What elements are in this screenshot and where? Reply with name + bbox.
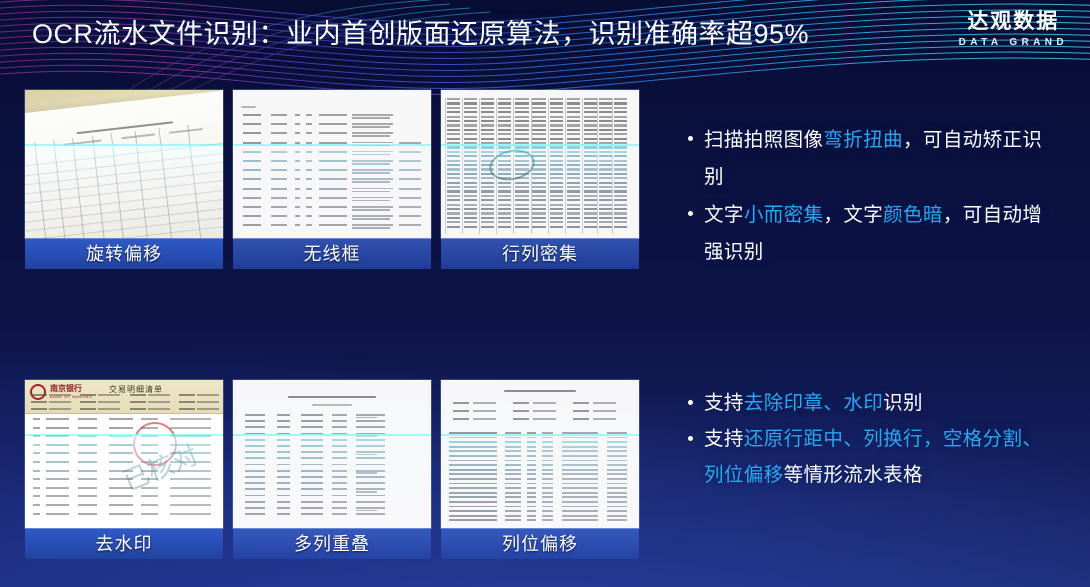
doc-text-line xyxy=(550,146,563,148)
doc-text-line xyxy=(481,138,494,140)
doc-text-line xyxy=(78,418,97,420)
doc-text-line xyxy=(46,444,69,446)
doc-text-line xyxy=(550,133,563,135)
doc-text-line xyxy=(301,426,323,428)
doc-text-line xyxy=(78,427,97,429)
doc-text-line xyxy=(245,501,265,503)
doc-text-line xyxy=(567,212,580,214)
doc-column-rule xyxy=(597,98,598,234)
doc-text-line xyxy=(573,418,589,420)
doc-text-line xyxy=(498,186,511,188)
doc-text-line xyxy=(567,129,580,131)
doc-text-line xyxy=(148,408,170,410)
doc-text-line xyxy=(464,217,477,219)
doc-text-line xyxy=(607,483,627,485)
highlighted-text: 小而密集 xyxy=(744,204,824,226)
doc-text-line xyxy=(550,217,563,219)
document-mock-dense-table xyxy=(441,90,639,238)
bank-name: 南京银行 xyxy=(50,383,82,394)
sample-thumbnail-column-shift xyxy=(441,380,639,528)
doc-text-line xyxy=(481,199,494,201)
doc-text-line xyxy=(464,182,477,184)
doc-text-line xyxy=(550,98,563,100)
doc-text-line xyxy=(562,487,597,489)
doc-text-line xyxy=(130,394,146,396)
doc-text-line xyxy=(550,102,563,104)
doc-text-line xyxy=(599,107,612,109)
doc-text-line xyxy=(464,111,477,113)
doc-text-line xyxy=(332,414,347,416)
doc-text-line xyxy=(352,126,389,128)
doc-text-line xyxy=(550,190,563,192)
sample-card-remove-watermark[interactable]: 南京银行 BANK OF NANJING 交易明细清单 已核对 去水印 xyxy=(25,380,223,559)
doc-text-line xyxy=(245,420,265,422)
doc-text-line xyxy=(245,513,265,515)
doc-text-line xyxy=(584,186,597,188)
doc-text-line xyxy=(130,401,146,403)
doc-text-line xyxy=(277,451,290,453)
doc-text-line xyxy=(80,401,96,403)
plain-text: 支持 xyxy=(704,392,744,414)
doc-text-line xyxy=(464,102,477,104)
doc-text-line xyxy=(464,168,477,170)
doc-text-line xyxy=(607,473,627,475)
doc-text-line xyxy=(109,504,134,506)
doc-text-line xyxy=(562,496,597,498)
doc-text-line xyxy=(481,120,494,122)
doc-column-rule xyxy=(548,98,549,234)
doc-text-line xyxy=(498,138,511,140)
doc-text-line xyxy=(515,204,528,206)
doc-text-line xyxy=(243,215,262,217)
doc-text-line xyxy=(599,138,612,140)
doc-text-line xyxy=(567,116,580,118)
doc-text-line xyxy=(399,151,421,153)
doc-text-line xyxy=(277,470,290,472)
doc-text-line xyxy=(584,138,597,140)
doc-text-line xyxy=(567,155,580,157)
doc-text-line xyxy=(599,133,612,135)
doc-text-line xyxy=(542,473,553,475)
doc-text-line xyxy=(243,169,262,171)
doc-text-line xyxy=(481,221,494,223)
doc-text-line xyxy=(271,142,288,144)
doc-text-line xyxy=(46,461,69,463)
doc-text-line xyxy=(271,178,288,180)
doc-text-line xyxy=(141,504,158,506)
doc-text-line xyxy=(481,204,494,206)
doc-text-line xyxy=(584,124,597,126)
doc-text-line xyxy=(532,226,545,228)
doc-text-line xyxy=(46,427,69,429)
doc-text-line xyxy=(599,217,612,219)
doc-text-line xyxy=(599,190,612,192)
doc-text-line xyxy=(532,208,545,210)
doc-text-line xyxy=(319,178,347,180)
doc-text-line xyxy=(245,414,265,416)
doc-text-line xyxy=(532,120,545,122)
doc-text-line xyxy=(481,195,494,197)
doc-text-line xyxy=(306,160,312,162)
doc-text-line xyxy=(599,177,612,179)
doc-text-line xyxy=(527,487,536,489)
doc-text-line xyxy=(301,451,323,453)
sample-card-caption: 多列重叠 xyxy=(233,528,431,559)
doc-text-line xyxy=(599,102,612,104)
doc-text-line xyxy=(481,190,494,192)
doc-text-line xyxy=(473,402,497,404)
doc-text-line xyxy=(464,155,477,157)
doc-text-line xyxy=(532,204,545,206)
doc-text-line xyxy=(614,217,627,219)
doc-text-line xyxy=(295,132,301,134)
doc-text-line xyxy=(319,151,347,153)
doc-text-line xyxy=(599,155,612,157)
doc-text-line xyxy=(449,478,497,480)
doc-text-line xyxy=(332,433,347,435)
doc-text-line xyxy=(481,226,494,228)
doc-column-rule xyxy=(612,98,613,234)
doc-text-line xyxy=(170,495,212,497)
doc-text-line xyxy=(550,195,563,197)
doc-text-line xyxy=(532,168,545,170)
doc-text-line xyxy=(295,188,301,190)
doc-text-line xyxy=(80,394,96,396)
doc-text-line xyxy=(301,488,323,490)
doc-text-line xyxy=(356,482,385,484)
doc-text-line xyxy=(532,199,545,201)
doc-text-line xyxy=(533,410,557,412)
doc-text-line xyxy=(130,408,146,410)
doc-text-line xyxy=(607,492,627,494)
doc-text-line xyxy=(33,452,41,454)
doc-text-line xyxy=(532,221,545,223)
doc-text-line xyxy=(527,446,536,448)
doc-text-line xyxy=(498,208,511,210)
doc-text-line xyxy=(542,437,553,439)
slide-root: OCR流水文件识别：业内首创版面还原算法，识别准确率超95% 达观数据 DATA… xyxy=(0,0,1090,587)
doc-text-line xyxy=(464,164,477,166)
doc-text-line xyxy=(449,446,497,448)
doc-text-line xyxy=(542,460,553,462)
doc-text-line xyxy=(614,160,627,162)
doc-text-line xyxy=(301,433,323,435)
doc-text-line xyxy=(464,195,477,197)
doc-text-line xyxy=(295,169,301,171)
doc-text-line xyxy=(170,418,212,420)
doc-text-line xyxy=(243,151,262,153)
doc-text-line xyxy=(356,464,385,466)
doc-text-line xyxy=(31,394,47,396)
doc-text-line xyxy=(481,217,494,219)
document-mock-multi-column xyxy=(233,380,431,528)
sample-card-column-overlap[interactable]: 多列重叠 xyxy=(233,380,431,559)
doc-text-line xyxy=(449,506,497,508)
doc-text-line xyxy=(584,195,597,197)
doc-text-line xyxy=(498,146,511,148)
doc-text-line xyxy=(505,487,522,489)
doc-text-line xyxy=(505,469,522,471)
doc-text-line xyxy=(319,224,347,226)
doc-text-line xyxy=(550,107,563,109)
sample-card-dense-grid[interactable]: 行列密集 xyxy=(441,90,639,269)
doc-text-line xyxy=(584,208,597,210)
doc-text-line xyxy=(141,495,158,497)
doc-text-line xyxy=(356,454,378,456)
doc-text-line xyxy=(295,215,301,217)
doc-text-line xyxy=(306,114,312,116)
doc-text-line xyxy=(562,492,597,494)
doc-text-line xyxy=(447,168,460,170)
doc-text-line xyxy=(567,199,580,201)
doc-text-line xyxy=(505,464,522,466)
doc-text-line xyxy=(498,98,511,100)
doc-text-line xyxy=(599,116,612,118)
doc-text-line xyxy=(277,439,290,441)
doc-text-line xyxy=(550,186,563,188)
doc-text-line xyxy=(306,178,312,180)
doc-text-line xyxy=(399,160,421,162)
doc-text-line xyxy=(532,98,545,100)
doc-text-line xyxy=(148,394,170,396)
sample-thumbnail-rotation-offset xyxy=(25,90,223,238)
doc-text-line xyxy=(319,169,347,171)
doc-text-line xyxy=(245,426,265,428)
doc-text-line xyxy=(352,172,389,174)
doc-text-line xyxy=(562,473,597,475)
doc-text-line xyxy=(245,433,265,435)
doc-text-line xyxy=(301,513,323,515)
doc-text-line xyxy=(271,169,288,171)
doc-text-line xyxy=(599,173,612,175)
doc-text-line xyxy=(550,173,563,175)
doc-text-line xyxy=(449,450,497,452)
doc-column-rule xyxy=(565,98,566,234)
doc-text-line xyxy=(306,215,312,217)
doc-text-line xyxy=(271,114,288,116)
doc-text-line xyxy=(464,204,477,206)
doc-text-line xyxy=(170,513,212,515)
doc-text-line xyxy=(78,470,97,472)
doc-text-line xyxy=(562,519,597,521)
doc-text-line xyxy=(319,188,347,190)
doc-text-line xyxy=(179,408,195,410)
doc-text-line xyxy=(447,226,460,228)
doc-text-line xyxy=(301,464,323,466)
doc-text-line xyxy=(599,199,612,201)
doc-text-line xyxy=(352,160,393,162)
doc-text-line xyxy=(614,142,627,144)
doc-text-line xyxy=(607,460,627,462)
doc-text-line xyxy=(515,133,528,135)
doc-text-line xyxy=(352,145,389,147)
doc-text-line xyxy=(505,450,522,452)
doc-text-line xyxy=(148,401,170,403)
doc-text-line xyxy=(599,124,612,126)
doc-text-line xyxy=(33,487,41,489)
doc-text-line xyxy=(599,204,612,206)
doc-text-line xyxy=(332,420,347,422)
doc-text-line xyxy=(599,142,612,144)
doc-text-line xyxy=(464,173,477,175)
doc-text-line xyxy=(453,418,469,420)
doc-text-line xyxy=(599,120,612,122)
doc-text-line xyxy=(527,501,536,503)
doc-text-line xyxy=(481,186,494,188)
doc-text-line xyxy=(505,510,522,512)
doc-text-line xyxy=(614,107,627,109)
doc-text-line xyxy=(515,124,528,126)
doc-text-line xyxy=(332,426,347,428)
doc-text-line xyxy=(98,408,120,410)
doc-text-line xyxy=(464,146,477,148)
doc-text-line xyxy=(532,133,545,135)
list-item: 支持还原行距中、列换行，空格分割、列位偏移等情形流水表格 xyxy=(688,422,1060,494)
doc-text-line xyxy=(447,151,460,153)
doc-text-line xyxy=(352,117,389,119)
doc-text-line xyxy=(481,107,494,109)
doc-text-line xyxy=(306,123,312,125)
doc-text-line xyxy=(356,457,385,459)
doc-text-line xyxy=(614,120,627,122)
doc-text-line xyxy=(245,507,265,509)
doc-text-line xyxy=(464,133,477,135)
doc-text-line xyxy=(567,226,580,228)
doc-text-line xyxy=(352,224,393,226)
doc-text-line xyxy=(295,142,301,144)
doc-text-line xyxy=(567,102,580,104)
doc-text-line xyxy=(464,212,477,214)
doc-text-line xyxy=(141,513,158,515)
doc-text-line xyxy=(332,451,347,453)
doc-text-line xyxy=(481,98,494,100)
doc-text-line xyxy=(515,116,528,118)
doc-text-line xyxy=(532,124,545,126)
feature-list-top: 扫描拍照图像弯折扭曲，可自动矫正识别 文字小而密集，文字颜色暗，可自动增强识别 xyxy=(688,122,1060,272)
doc-text-line xyxy=(532,173,545,175)
doc-text-line xyxy=(515,226,528,228)
doc-text-line xyxy=(567,133,580,135)
doc-text-line xyxy=(515,146,528,148)
doc-text-line xyxy=(567,160,580,162)
document-mock-photo-receipt xyxy=(25,90,223,238)
doc-column-rule xyxy=(462,98,463,234)
sample-card-rotation-offset[interactable]: 旋转偏移 xyxy=(25,90,223,269)
doc-text-line xyxy=(356,420,385,422)
doc-text-line xyxy=(567,107,580,109)
doc-text-line xyxy=(614,208,627,210)
doc-text-line xyxy=(599,98,612,100)
doc-text-line xyxy=(277,457,290,459)
doc-text-line xyxy=(464,124,477,126)
doc-text-line xyxy=(542,492,553,494)
doc-text-line xyxy=(277,476,290,478)
brand-logo-cn: 达观数据 xyxy=(959,10,1068,34)
doc-text-line xyxy=(447,142,460,144)
doc-text-line xyxy=(277,414,290,416)
doc-text-line xyxy=(33,470,41,472)
doc-text-line xyxy=(449,437,497,439)
doc-text-line xyxy=(447,173,460,175)
doc-text-line xyxy=(532,116,545,118)
doc-text-line xyxy=(447,177,460,179)
doc-text-line xyxy=(599,160,612,162)
doc-text-line xyxy=(614,177,627,179)
doc-text-line xyxy=(562,464,597,466)
doc-text-line xyxy=(243,160,262,162)
doc-text-line xyxy=(306,224,312,226)
doc-text-line xyxy=(542,478,553,480)
doc-text-line xyxy=(271,160,288,162)
doc-text-line xyxy=(46,513,69,515)
doc-text-line xyxy=(179,394,195,396)
doc-text-line xyxy=(498,120,511,122)
doc-text-line xyxy=(614,98,627,100)
doc-text-line xyxy=(356,433,385,435)
doc-text-line xyxy=(498,107,511,109)
doc-text-line xyxy=(245,457,265,459)
doc-text-line xyxy=(599,168,612,170)
doc-text-line xyxy=(447,195,460,197)
doc-text-line xyxy=(109,427,134,429)
doc-text-line xyxy=(295,151,301,153)
doc-text-line xyxy=(464,199,477,201)
doc-text-line xyxy=(498,133,511,135)
doc-text-line xyxy=(550,138,563,140)
sample-card-column-shift[interactable]: 列位偏移 xyxy=(441,380,639,559)
doc-text-line xyxy=(607,519,627,521)
doc-text-line xyxy=(301,501,323,503)
doc-text-line xyxy=(550,160,563,162)
doc-text-line xyxy=(356,501,385,503)
doc-text-line xyxy=(319,206,347,208)
sample-card-borderless[interactable]: 无线框 xyxy=(233,90,431,269)
doc-text-line xyxy=(33,478,41,480)
doc-text-line xyxy=(567,217,580,219)
doc-text-line xyxy=(356,510,378,512)
doc-text-line xyxy=(532,107,545,109)
doc-text-line xyxy=(498,212,511,214)
doc-text-line xyxy=(562,441,597,443)
doc-text-line xyxy=(550,182,563,184)
doc-text-line xyxy=(447,155,460,157)
sample-card-caption: 去水印 xyxy=(25,528,223,559)
doc-text-line xyxy=(614,186,627,188)
doc-text-line xyxy=(614,168,627,170)
doc-text-line xyxy=(498,142,511,144)
doc-text-line xyxy=(542,506,553,508)
doc-text-line xyxy=(607,515,627,517)
doc-text-line xyxy=(449,441,497,443)
doc-text-line xyxy=(614,124,627,126)
doc-text-line xyxy=(78,504,97,506)
doc-text-line xyxy=(78,461,97,463)
doc-text-line xyxy=(301,414,323,416)
doc-text-line xyxy=(527,496,536,498)
doc-text-line xyxy=(532,151,545,153)
doc-text-line xyxy=(542,515,553,517)
doc-text-line xyxy=(584,98,597,100)
doc-text-line xyxy=(319,114,347,116)
doc-text-line xyxy=(515,186,528,188)
doc-text-line xyxy=(513,402,529,404)
doc-text-line xyxy=(31,401,47,403)
doc-text-line xyxy=(584,129,597,131)
doc-text-line xyxy=(607,501,627,503)
doc-text-line xyxy=(243,224,262,226)
doc-text-line xyxy=(527,455,536,457)
doc-text-line xyxy=(33,444,41,446)
